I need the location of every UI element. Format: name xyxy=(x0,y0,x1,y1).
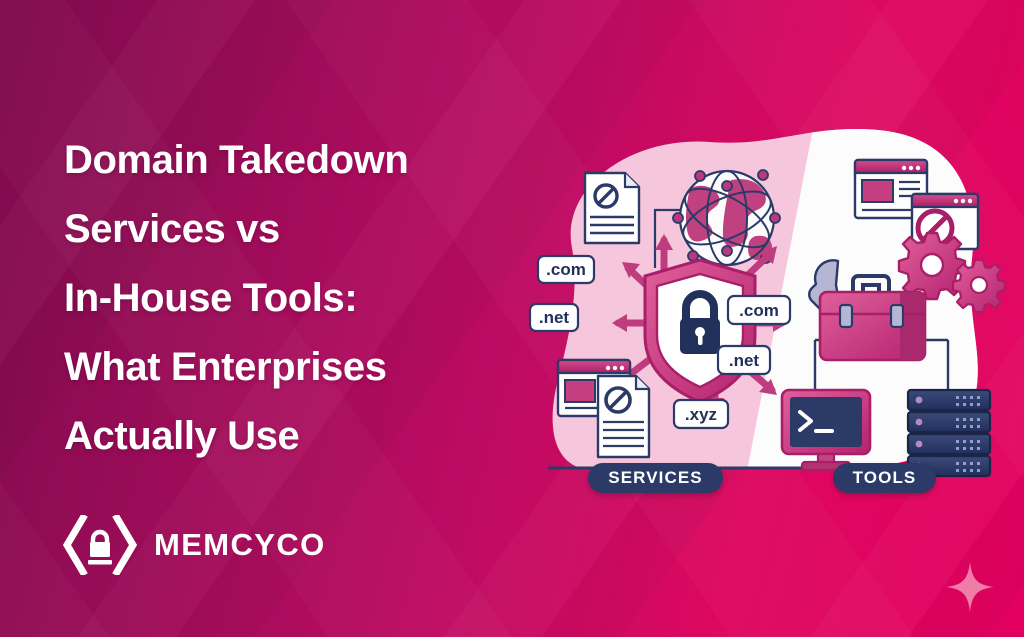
domain-chip-label: .com xyxy=(739,301,779,320)
blocked-document-icon xyxy=(598,376,649,457)
domain-chip: .net xyxy=(718,346,770,374)
page-title: Domain Takedown Services vs In-House Too… xyxy=(64,126,534,471)
domain-chip: .net xyxy=(530,304,578,331)
page-title-line-4: What Enterprises xyxy=(64,333,534,402)
gear-small-icon xyxy=(953,260,1005,312)
domain-chip-label: .net xyxy=(539,308,570,327)
brand-wordmark: MEMCYCO xyxy=(154,527,326,563)
blocked-document-icon xyxy=(585,173,639,243)
domain-chip-label: .xyz xyxy=(685,405,717,424)
page-title-line-1: Domain Takedown xyxy=(64,126,534,195)
services-caption-label: SERVICES xyxy=(608,468,702,488)
page-title-line-5: Actually Use xyxy=(64,402,534,471)
domain-chip: .com xyxy=(538,256,594,283)
domain-chip-label: .net xyxy=(729,351,760,370)
domain-chip: .xyz xyxy=(674,400,728,428)
services-caption-pill: SERVICES xyxy=(588,463,723,493)
domain-chip-label: .com xyxy=(546,260,586,279)
tools-caption-label: TOOLS xyxy=(853,468,917,488)
page-title-line-2: Services vs xyxy=(64,195,534,264)
hero-banner: Domain Takedown Services vs In-House Too… xyxy=(0,0,1024,637)
angle-brackets-lock-icon xyxy=(63,515,137,575)
hero-illustration: .com .net .com .net .xyz xyxy=(510,118,1010,518)
brand-logo[interactable]: MEMCYCO xyxy=(63,515,326,575)
domain-chip: .com xyxy=(728,296,790,324)
tools-caption-pill: TOOLS xyxy=(833,463,936,493)
four-point-star-icon xyxy=(946,562,994,612)
page-title-line-3: In-House Tools: xyxy=(64,264,534,333)
